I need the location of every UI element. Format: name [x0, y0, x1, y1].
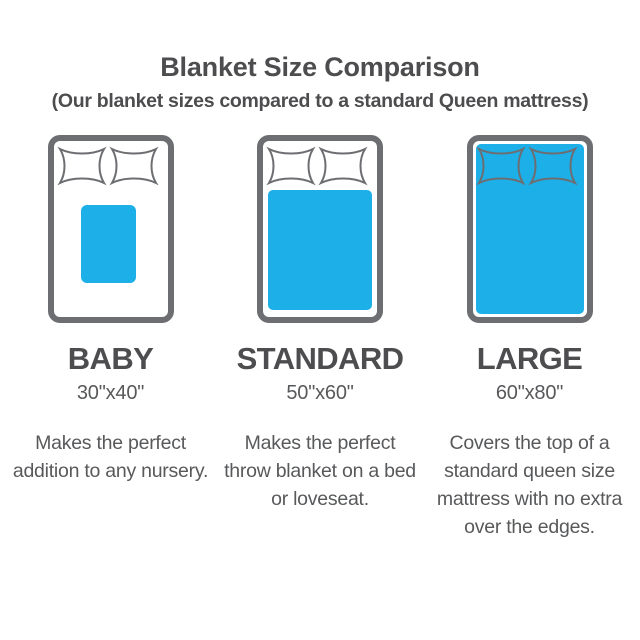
- pillow-left-icon: [60, 149, 104, 183]
- bed-illustration-large: [467, 135, 593, 323]
- comparison-column-baby: BABY 30"x40" Makes the perfect addition …: [6, 135, 215, 485]
- bed-illustration-baby: [48, 135, 174, 323]
- blanket-overlay-baby: [81, 205, 136, 283]
- size-dimensions-large: 60"x80": [496, 383, 563, 403]
- bed-diagram-standard-icon: [257, 135, 383, 323]
- blanket-overlay-standard: [268, 190, 372, 310]
- header: Blanket Size Comparison (Our blanket siz…: [0, 0, 640, 113]
- size-description-standard: Makes the perfect throw blanket on a bed…: [220, 430, 420, 513]
- size-name-large: LARGE: [477, 343, 583, 374]
- pillow-left-icon: [269, 149, 313, 183]
- bed-illustration-standard: [257, 135, 383, 323]
- size-dimensions-standard: 50"x60": [286, 383, 353, 403]
- size-name-baby: BABY: [68, 343, 153, 374]
- comparison-columns: BABY 30"x40" Makes the perfect addition …: [0, 135, 640, 541]
- size-description-baby: Makes the perfect addition to any nurser…: [11, 430, 211, 485]
- blanket-overlay-large: [476, 144, 584, 314]
- bed-diagram-baby-icon: [48, 135, 174, 323]
- size-dimensions-baby: 30"x40": [77, 383, 144, 403]
- page-subtitle: (Our blanket sizes compared to a standar…: [0, 90, 640, 113]
- comparison-column-large: LARGE 60"x80" Covers the top of a standa…: [425, 135, 634, 541]
- pillow-right-icon: [321, 149, 365, 183]
- page-title: Blanket Size Comparison: [0, 52, 640, 83]
- size-name-standard: STANDARD: [237, 343, 404, 374]
- comparison-column-standard: STANDARD 50"x60" Makes the perfect throw…: [216, 135, 425, 513]
- pillow-right-icon: [112, 149, 156, 183]
- bed-diagram-large-icon: [467, 135, 593, 323]
- blanket-size-comparison-infographic: Blanket Size Comparison (Our blanket siz…: [0, 0, 640, 640]
- size-description-large: Covers the top of a standard queen size …: [430, 430, 630, 541]
